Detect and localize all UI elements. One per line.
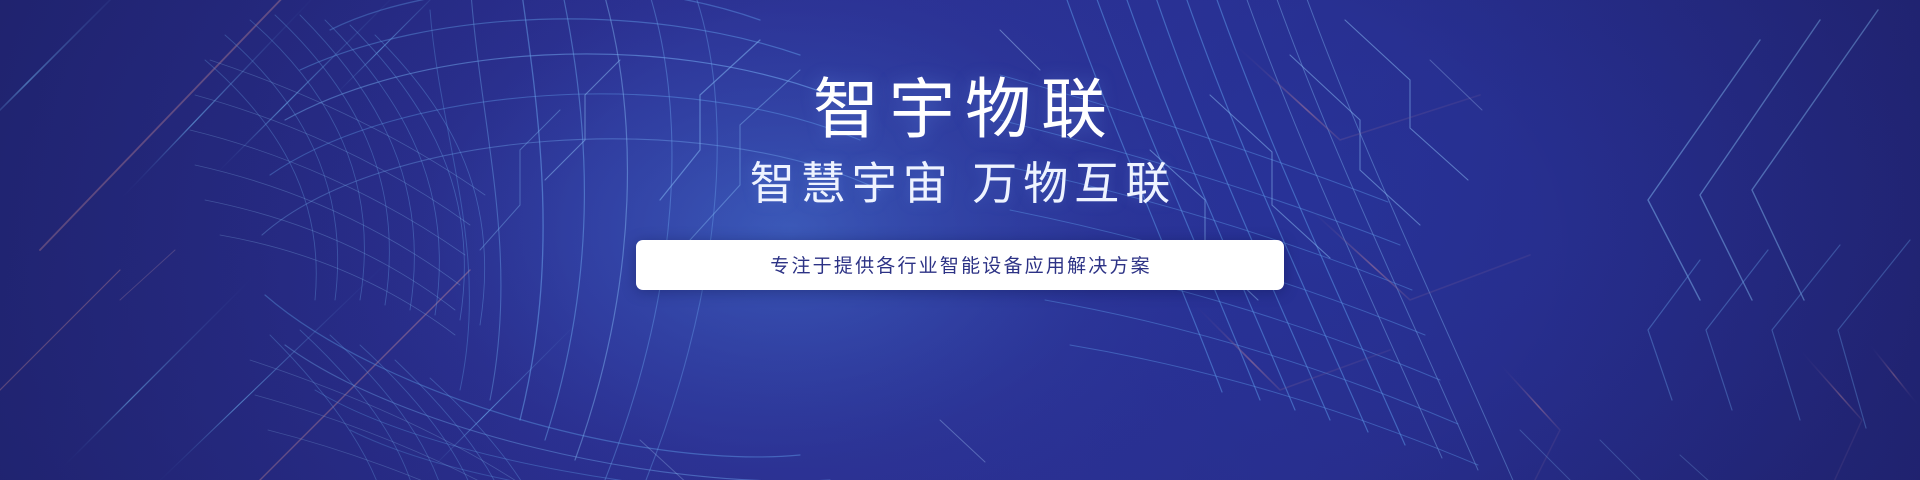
page-subtitle: 智慧宇宙 万物互联 [744,159,1177,209]
page-title: 智宇物联 [803,74,1117,145]
banner-content: 智宇物联 智慧宇宙 万物互联 专注于提供各行业智能设备应用解决方案 [0,0,1920,480]
tagline-box[interactable]: 专注于提供各行业智能设备应用解决方案 [636,240,1284,290]
tagline-text: 专注于提供各行业智能设备应用解决方案 [768,251,1152,278]
hero-banner: 智宇物联 智慧宇宙 万物互联 专注于提供各行业智能设备应用解决方案 [0,0,1920,480]
